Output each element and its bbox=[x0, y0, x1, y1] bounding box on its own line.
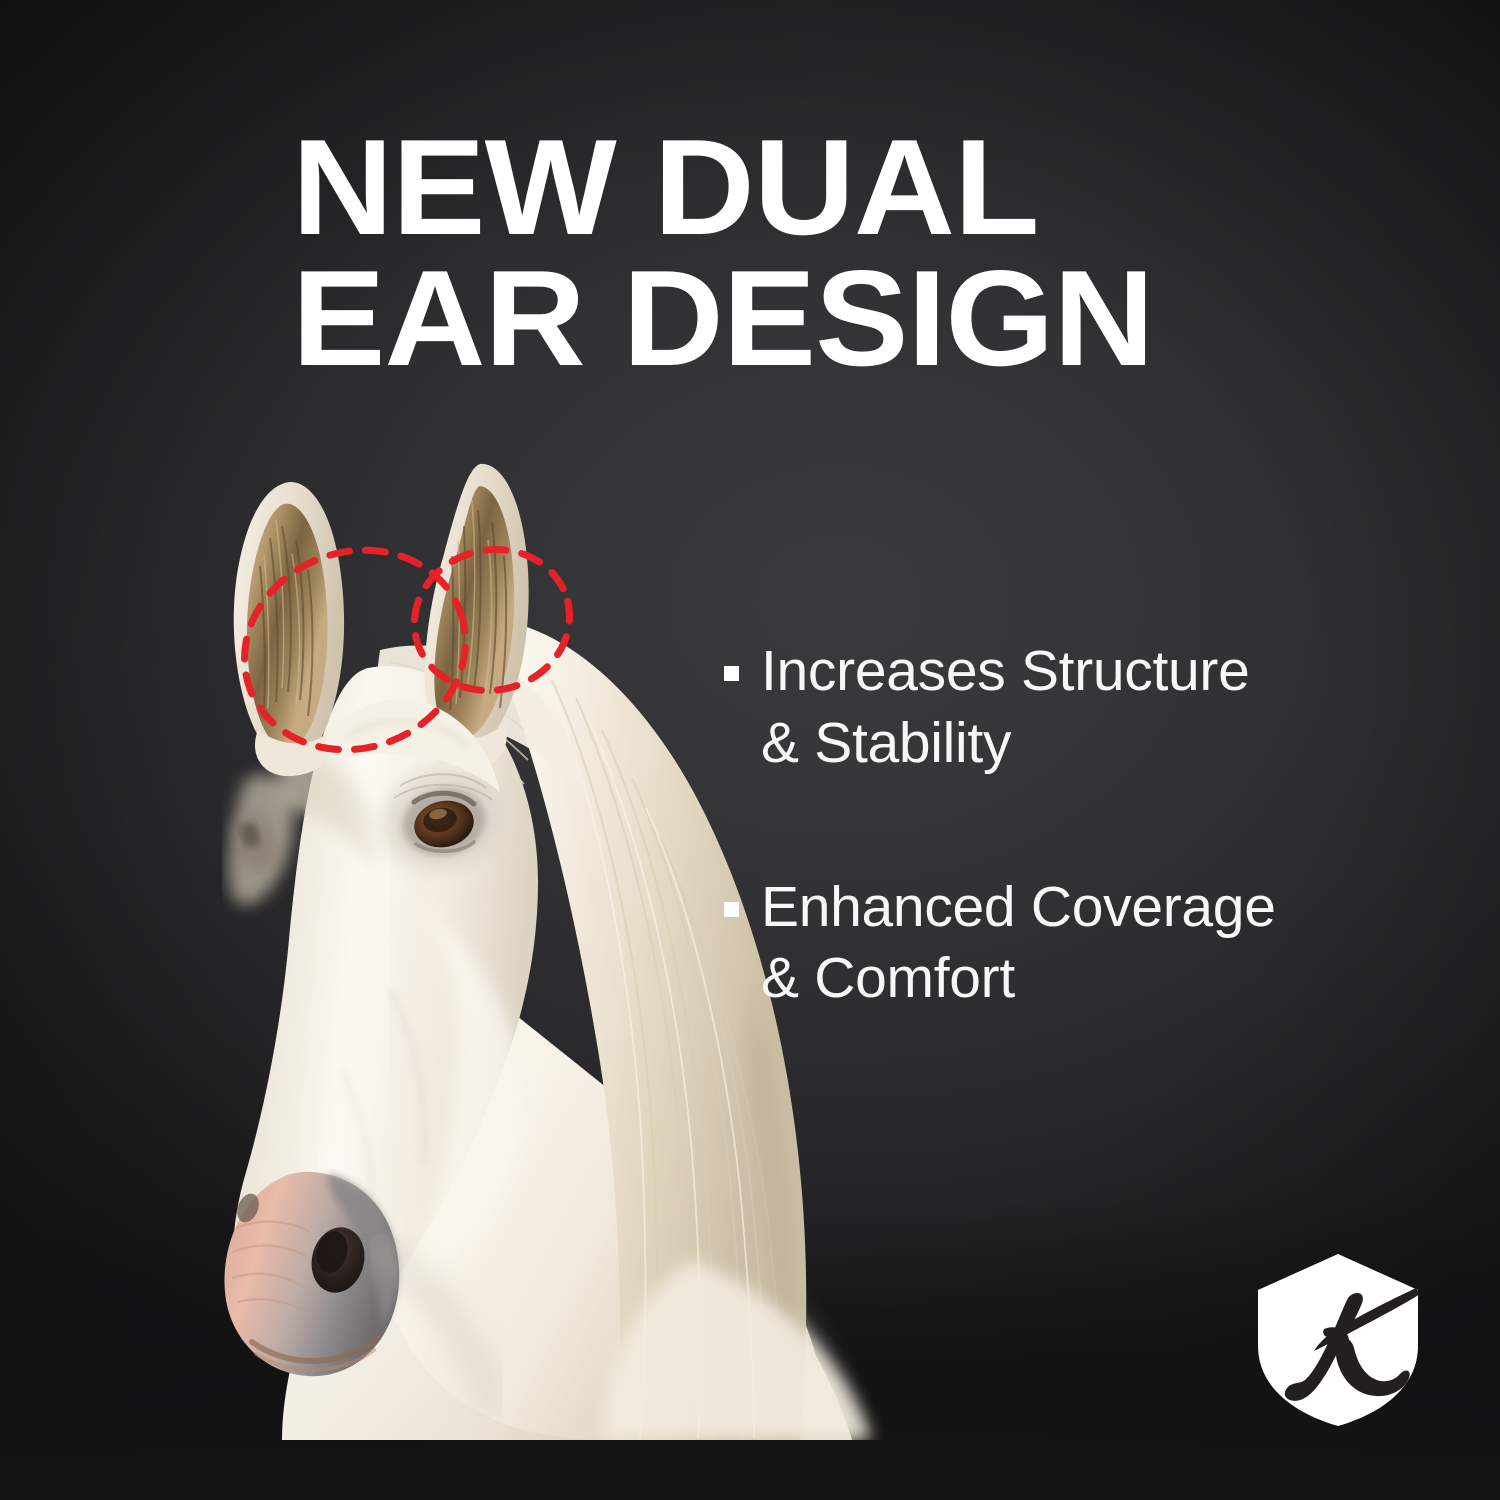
marketing-banner: NEW DUAL EAR DESIGN bbox=[0, 0, 1500, 1500]
square-bullet-icon bbox=[724, 666, 739, 681]
list-item-line-1: Increases Structure bbox=[761, 639, 1250, 703]
list-item-line-1: Enhanced Coverage bbox=[761, 875, 1276, 939]
headline-line-2: EAR DESIGN bbox=[292, 253, 1281, 384]
list-item: Enhanced Coverage & Comfort bbox=[724, 872, 1424, 1016]
horse-muzzle bbox=[224, 1172, 399, 1376]
square-bullet-icon bbox=[724, 902, 739, 917]
brand-logo bbox=[1248, 1250, 1428, 1430]
list-item-text: Increases Structure & Stability bbox=[761, 636, 1250, 780]
list-item: Increases Structure & Stability bbox=[724, 636, 1424, 780]
page-title: NEW DUAL EAR DESIGN bbox=[292, 122, 1281, 383]
list-item-text: Enhanced Coverage & Comfort bbox=[761, 872, 1276, 1016]
list-item-line-2: & Comfort bbox=[761, 946, 1015, 1010]
headline-line-1: NEW DUAL bbox=[292, 122, 1281, 253]
feature-list: Increases Structure & Stability Enhanced… bbox=[724, 636, 1424, 1015]
list-item-line-2: & Stability bbox=[761, 711, 1011, 775]
